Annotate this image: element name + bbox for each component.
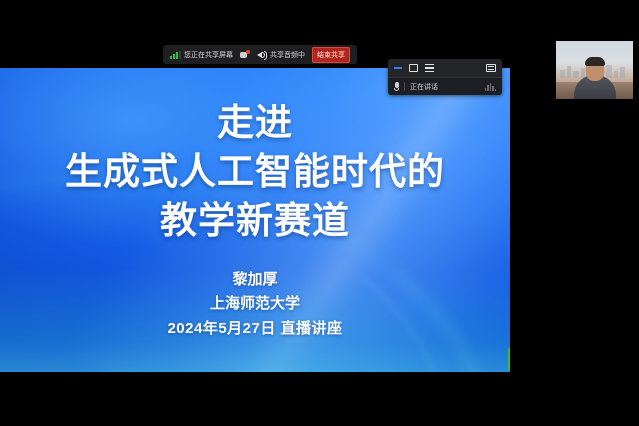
window-icon[interactable] — [409, 64, 418, 72]
connection-status: 您正在共享屏幕 — [170, 50, 233, 60]
letterbox-bar-top — [0, 0, 639, 41]
shared-presentation-slide: 走进 生成式人工智能时代的 教学新赛道 黎加厚 上海师范大学 2024年5月27… — [0, 68, 510, 372]
audio-waveform-indicator — [485, 82, 497, 91]
list-icon[interactable] — [425, 64, 434, 72]
control-panel-divider — [404, 82, 405, 91]
slide-date-session: 2024年5月27日 直播讲座 — [167, 317, 342, 342]
share-audio-label: 共享音频中 — [270, 50, 305, 60]
slide-content: 走进 生成式人工智能时代的 教学新赛道 黎加厚 上海师范大学 2024年5月27… — [0, 68, 510, 372]
control-panel-top-row — [388, 59, 502, 77]
slide-affiliation: 上海师范大学 — [167, 292, 342, 317]
share-audio-status[interactable]: 共享音频中 — [257, 50, 305, 60]
webcam-person-hair — [585, 57, 605, 66]
screen-share-status-toolbar[interactable]: 您正在共享屏幕 共享音频中 结束共享 — [163, 45, 357, 64]
screen-share-icon[interactable] — [240, 50, 250, 59]
microphone-icon[interactable] — [394, 82, 399, 91]
slide-metadata: 黎加厚 上海师范大学 2024年5月27日 直播讲座 — [167, 268, 342, 342]
stop-share-button[interactable]: 结束共享 — [312, 47, 350, 63]
panel-layout-icon[interactable] — [486, 64, 496, 72]
control-panel-bottom-row: 正在讲话 — [388, 77, 502, 95]
meeting-control-panel[interactable]: 正在讲话 — [388, 59, 502, 95]
slide-title-line-2: 生成式人工智能时代的 — [65, 147, 445, 196]
slide-title-line-3: 教学新赛道 — [65, 196, 445, 245]
speaking-status-label: 正在讲话 — [410, 82, 438, 92]
slide-title: 走进 生成式人工智能时代的 教学新赛道 — [65, 98, 445, 246]
speaker-audio-icon — [257, 50, 267, 59]
screen-share-view: 走进 生成式人工智能时代的 教学新赛道 黎加厚 上海师范大学 2024年5月27… — [0, 0, 639, 426]
signal-bars-icon — [170, 51, 181, 59]
minimize-icon[interactable] — [394, 67, 402, 69]
connection-status-label: 您正在共享屏幕 — [184, 50, 233, 60]
slide-title-line-1: 走进 — [65, 98, 445, 147]
participant-video-thumbnail[interactable] — [556, 41, 633, 99]
slide-presenter-name: 黎加厚 — [167, 268, 342, 293]
